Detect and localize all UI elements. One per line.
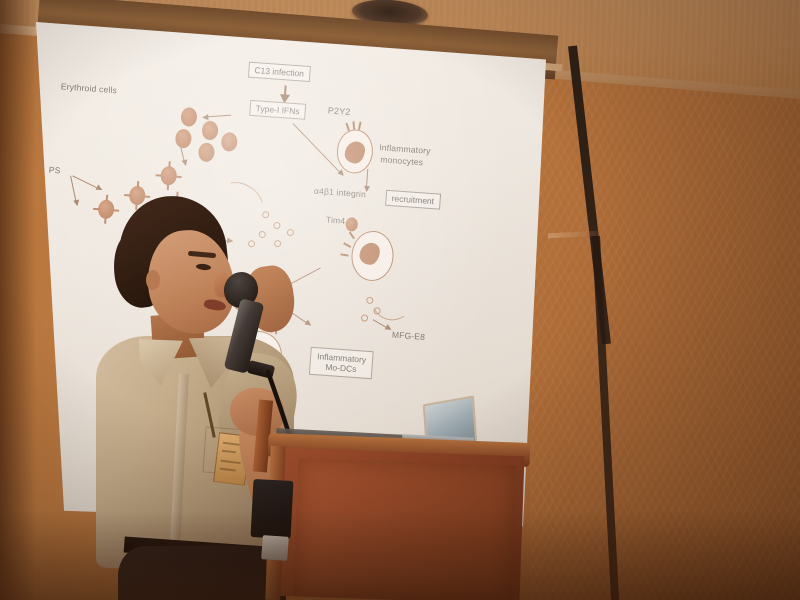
ps-exposing-cell: [160, 166, 177, 186]
arrow-to-mfge8: [373, 319, 391, 330]
receptor-icon: [340, 253, 348, 256]
erythroid-cell: [175, 129, 192, 149]
arrow-monocyte-to-recruitment: [366, 169, 369, 191]
arrow-erythroid-down: [180, 147, 185, 165]
arrow-infection-to-ifn: [283, 85, 287, 101]
receptor-icon: [345, 123, 349, 131]
erythroid-cell: [221, 132, 238, 152]
receptor-icon: [343, 242, 351, 248]
arrow-ifn-to-erythroid: [203, 114, 231, 117]
receptor-icon: [353, 121, 356, 129]
vesicle: [361, 314, 368, 321]
label-p2y2: P2Y2: [327, 105, 351, 117]
label-type-i-ifns: Type-I IFNs: [249, 100, 306, 120]
label-mfge8: MFG-E8: [392, 331, 426, 343]
erythroid-cell: [198, 142, 215, 162]
erythroid-cell: [201, 120, 218, 140]
label-ps: PS: [48, 166, 60, 177]
badge-text-line: [220, 468, 236, 472]
cell-nucleus: [359, 242, 381, 265]
arrow-ps-pointer: [72, 175, 101, 190]
cell-nucleus: [344, 141, 366, 164]
label-inflammatory-monocytes-line2: monocytes: [380, 155, 423, 168]
badge-text-line: [222, 450, 236, 454]
engulfed-cell: [345, 217, 358, 232]
label-recruitment: recruitment: [385, 190, 441, 210]
erythroid-cell: [180, 107, 197, 127]
receptor-icon: [349, 232, 355, 240]
label-erythroid-cells: Erythroid cells: [60, 82, 117, 96]
presenter-ear: [146, 270, 160, 290]
badge-text-line: [221, 460, 241, 464]
floor-shadow: [0, 510, 800, 600]
arrow-ps-pointer-2: [70, 176, 77, 206]
inflammatory-monocyte-cell: [335, 128, 374, 174]
presentation-photo: C13 infection Type-I IFNs Erythroid cell…: [0, 0, 800, 600]
label-c13-infection: C13 infection: [248, 62, 311, 83]
receptor-icon: [358, 122, 362, 130]
arrow-ifn-to-integrin: [292, 123, 343, 176]
